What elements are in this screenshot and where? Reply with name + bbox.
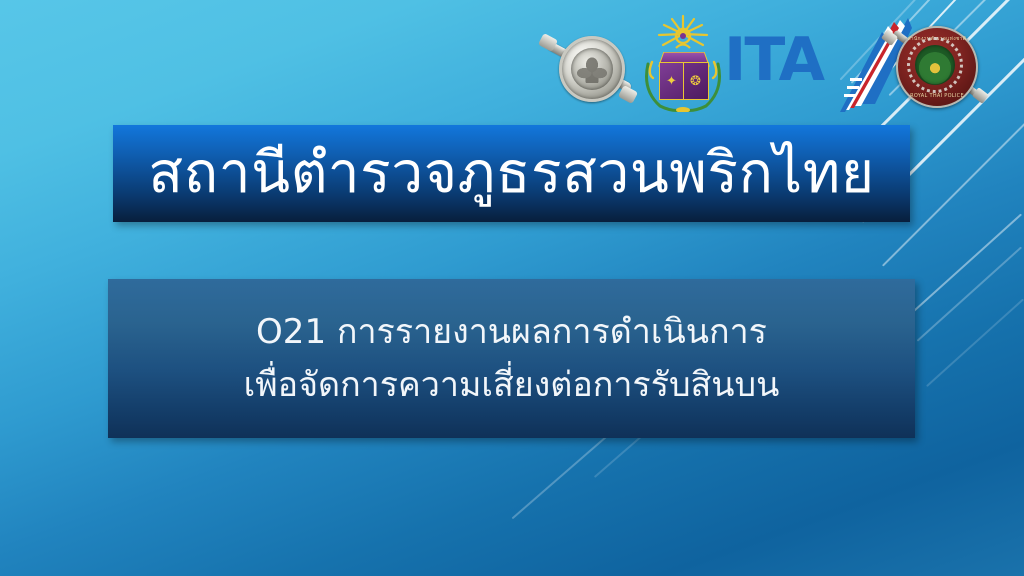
streak-line [926,299,1024,387]
seal-disc: สำนักงานตำรวจแห่งชาติ ROYAL THAI POLICE [896,26,978,108]
logo-row: ✦ ❂ ITA [528,8,1018,118]
medallion-motif [577,57,607,83]
subtitle-banner: O21 การรายงานผลการดำเนินการ เพื่อจัดการค… [108,279,915,438]
red-circular-sword-seal-icon: สำนักงานตำรวจแห่งชาติ ROYAL THAI POLICE [882,10,990,120]
medallion-inner-disc [571,48,613,90]
title-banner: สถานีตำรวจภูธรสวนพริกไทย [113,125,910,222]
ita-wordmark-text: ITA [724,30,823,90]
thai-police-silver-medallion-icon [538,16,638,114]
streak-line [917,247,1022,342]
streak-line [909,214,1022,316]
seal-center-motif [915,45,955,85]
crest-laurel-wreath [642,56,724,112]
subtitle-line-1: O21 การรายงานผลการดำเนินการ [256,313,767,351]
medallion-disc [559,36,625,102]
streak-line [512,432,611,519]
page-title: สถานีตำรวจภูธรสวนพริกไทย [148,144,874,204]
royal-thai-police-crest-icon: ✦ ❂ [640,12,726,118]
presentation-slide: ✦ ❂ ITA [0,0,1024,576]
subtitle-line-2: เพื่อจัดการความเสี่ยงต่อการรับสินบน [244,366,780,404]
seal-bottom-text: ROYAL THAI POLICE [898,93,976,99]
